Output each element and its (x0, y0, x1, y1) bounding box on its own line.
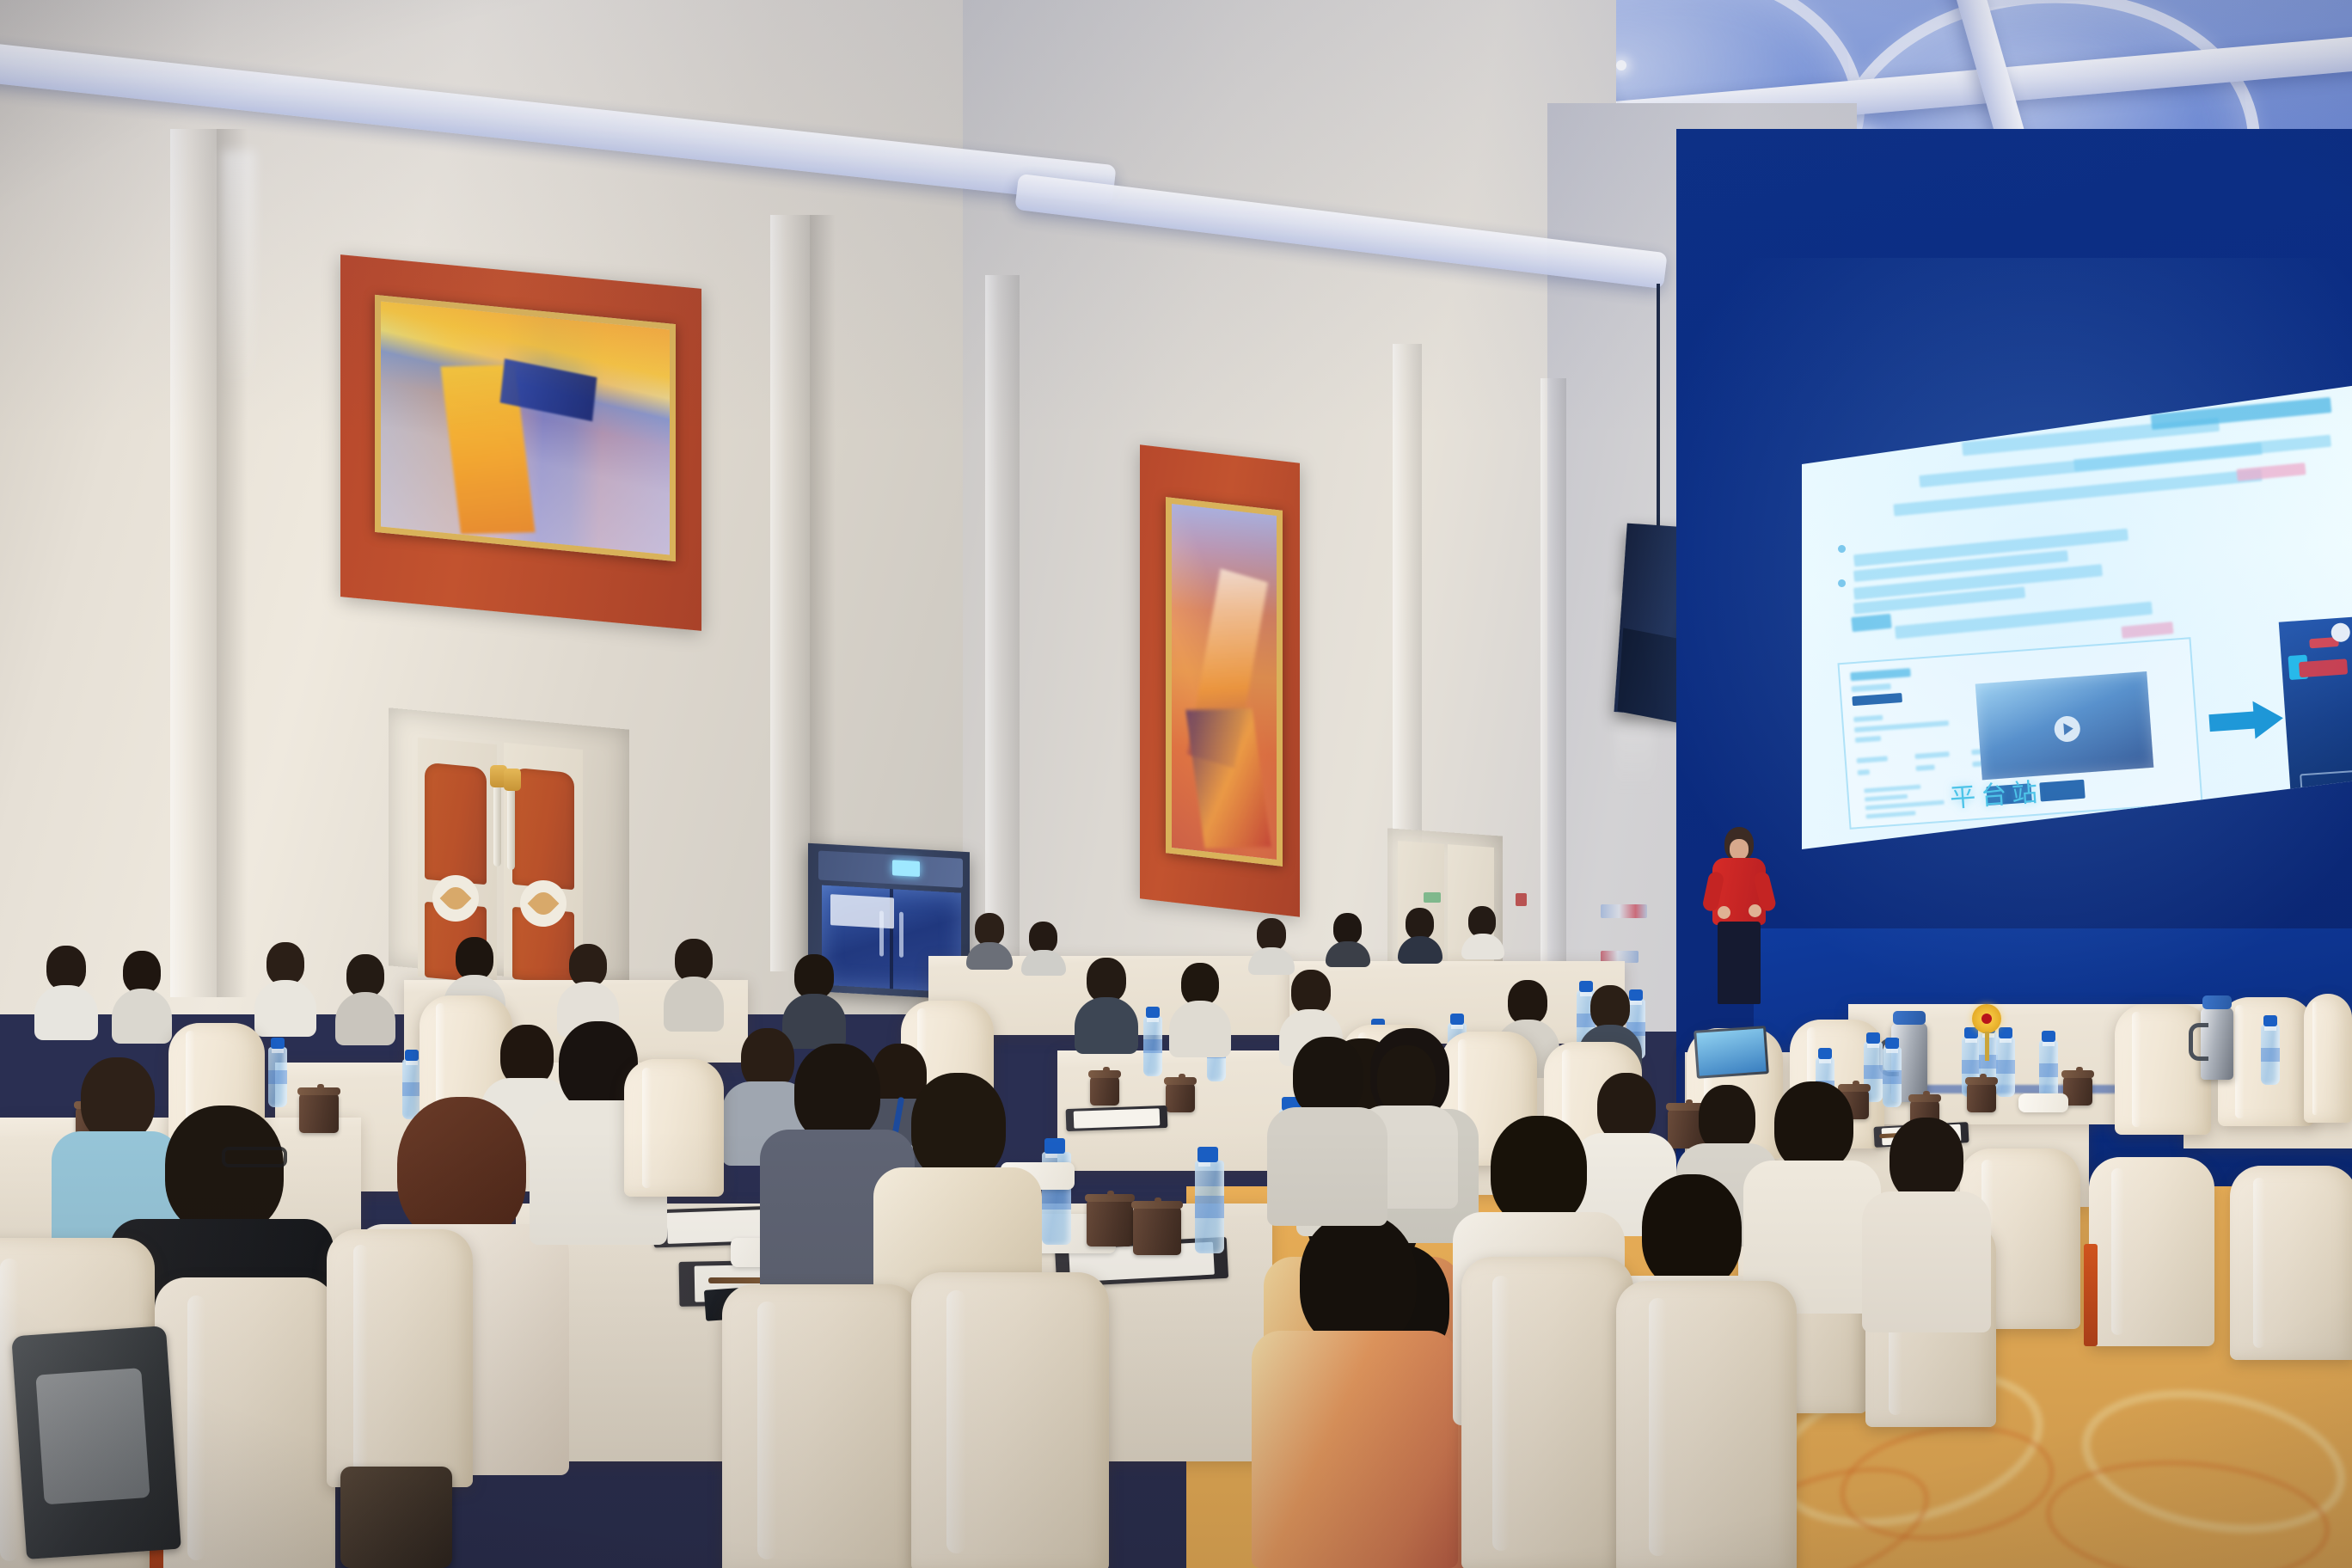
attendee-head (1291, 970, 1331, 1014)
presenter-hand-left (1718, 906, 1730, 919)
attendee (1461, 906, 1504, 958)
attendee-head (1181, 963, 1219, 1006)
attendee-head (1491, 1116, 1587, 1226)
attendee-torso (1267, 1107, 1387, 1226)
attendee-torso (254, 980, 316, 1037)
bottled-water (1143, 1016, 1162, 1076)
door-handle-knob[interactable] (504, 769, 521, 791)
folded-napkin (2018, 1093, 2068, 1112)
attendee (1398, 908, 1442, 961)
attendee-head (1590, 985, 1630, 1030)
vacuum-flask (2201, 1008, 2233, 1080)
attendee (1267, 1037, 1387, 1226)
attendee-head (1890, 1118, 1963, 1202)
lidded-teacup (1133, 1207, 1181, 1255)
attendee (34, 946, 98, 1040)
attendee (1326, 913, 1370, 965)
attendee-torso (1862, 1191, 1991, 1332)
banquet-chair (2304, 994, 2352, 1123)
slide-video-thumbnail (1975, 671, 2154, 780)
door-panel (512, 768, 574, 891)
attendee-torso (112, 989, 172, 1044)
bottled-water (1195, 1161, 1224, 1253)
backpack-pocket (36, 1368, 150, 1504)
slide-subheading-rest (1895, 602, 2153, 640)
attendee-torso (664, 977, 724, 1032)
card-body-line (1854, 720, 1949, 732)
wall-sign-plaque (1601, 904, 1647, 918)
card-sub-line (1851, 683, 1890, 692)
attendee-torso (1398, 936, 1442, 964)
fire-alarm-icon (1516, 893, 1527, 906)
attendee-head (675, 939, 713, 982)
banquet-chair (155, 1277, 335, 1568)
banquet-chair (327, 1229, 473, 1487)
attendee-head (123, 951, 161, 994)
attendee (1169, 963, 1231, 1057)
wall-pilaster (170, 129, 217, 997)
banquet-chair (1461, 1257, 1633, 1568)
painting-frame (1166, 497, 1283, 867)
attendee-head (1257, 918, 1286, 951)
attendee (1743, 1081, 1881, 1314)
attendee (335, 954, 395, 1045)
card-body-line (1855, 736, 1881, 743)
attendee-head (266, 942, 304, 985)
door-medallion (432, 875, 479, 922)
banquet-chair (722, 1284, 920, 1568)
attendee-head (1029, 922, 1057, 953)
card-list-line (1864, 785, 1920, 793)
slide-card-button[interactable] (2039, 780, 2085, 802)
bottled-water (1996, 1037, 2015, 1097)
play-icon (2054, 715, 2081, 743)
attendee-head (346, 954, 384, 997)
abstract-vertical-painting (1172, 504, 1277, 860)
wall-light-wash (222, 150, 256, 391)
slide-subheading (1851, 614, 1891, 632)
card-stat-label (1914, 751, 1949, 759)
slide-text-highlight (2121, 622, 2173, 639)
card-stat-value (1915, 764, 1934, 771)
wall-pilaster (985, 275, 1020, 980)
abstract-landscape-painting (381, 302, 670, 555)
card-tag (1852, 693, 1902, 706)
flow-arrow-icon (2208, 699, 2290, 742)
attendee-torso (1461, 934, 1504, 959)
card-list-line (1865, 800, 1945, 811)
card-title-line (1850, 668, 1911, 681)
presenter (1704, 827, 1776, 1008)
chair-sash (2084, 1244, 2098, 1346)
attendee-head (456, 937, 493, 980)
attendee-head (794, 954, 834, 999)
backpack (11, 1326, 181, 1559)
slide-caption: 平台站 (1949, 770, 2044, 814)
attendee-head (165, 1106, 284, 1234)
attendee-torso (1169, 1001, 1231, 1057)
banquet-chair (1616, 1281, 1797, 1568)
card-list-line (1865, 811, 1915, 818)
attendee-head (911, 1073, 1006, 1181)
attendee-head (569, 944, 607, 987)
notepad-folder (1066, 1106, 1168, 1131)
painting-frame (375, 295, 676, 561)
attendee (1862, 1118, 1991, 1332)
attendee (112, 951, 172, 1044)
attendee-head (1300, 1214, 1417, 1348)
bottled-water (2039, 1040, 2058, 1100)
card-list-line (1865, 794, 1908, 802)
attendee-head (1406, 908, 1434, 940)
lidded-teacup (1087, 1200, 1133, 1246)
banquet-chair (624, 1059, 724, 1197)
downlight-icon (1616, 60, 1626, 70)
cooler-display (892, 860, 920, 877)
attendee-torso (335, 992, 395, 1045)
attendee (1248, 918, 1295, 971)
mobile-icon-circle (2331, 622, 2350, 642)
banquet-chair (911, 1272, 1109, 1568)
door-panel (425, 763, 487, 885)
presenter-trousers (1718, 922, 1761, 1004)
banquet-chair (2230, 1166, 2352, 1360)
handbag (340, 1467, 452, 1568)
attendee-torso (1252, 1331, 1458, 1568)
cooler-header (818, 850, 963, 887)
table-number-disc (1972, 1004, 2001, 1033)
attendee (1252, 1214, 1458, 1568)
attendee (664, 939, 724, 1032)
banquet-chair (2089, 1157, 2214, 1346)
attendee (1021, 922, 1066, 973)
mobile-tag (2299, 658, 2348, 677)
bottled-water (268, 1047, 287, 1107)
attendee-head (794, 1044, 880, 1142)
exit-sign-icon (1424, 892, 1441, 903)
attendee-torso (1021, 950, 1066, 976)
attendee-head (1333, 913, 1362, 945)
laptop[interactable] (1694, 1026, 1769, 1079)
cooler-label (830, 894, 894, 928)
attendee-head (975, 913, 1004, 946)
attendee-head (397, 1097, 526, 1243)
presenter-face (1730, 839, 1749, 860)
attendee-head (1774, 1081, 1853, 1171)
slide-bullet-icon (1838, 579, 1847, 588)
wall-pilaster (770, 215, 810, 971)
attendee-head (1508, 980, 1547, 1025)
wall-pilaster (1540, 378, 1566, 980)
table-runner (1891, 1085, 2149, 1093)
door-handle[interactable] (493, 782, 501, 867)
bottled-water (2261, 1025, 2280, 1085)
attendee-torso (1326, 941, 1370, 967)
attendee-head (46, 946, 86, 990)
attendee-head (1087, 958, 1126, 1002)
speaker-suspension-cable (1657, 284, 1660, 530)
attendee-head (1293, 1037, 1363, 1118)
presenter-hand-right (1749, 904, 1761, 917)
slide-bullet-icon (1838, 545, 1847, 554)
card-stat-label (1857, 756, 1888, 763)
attendee (1075, 958, 1138, 1054)
attendee-head (1642, 1174, 1742, 1289)
attendee (254, 942, 316, 1037)
door-handle[interactable] (507, 786, 515, 870)
slide-mobile-screenshot (2279, 616, 2352, 804)
door-medallion (520, 880, 567, 927)
bottled-water (1883, 1047, 1902, 1107)
attendee-torso (34, 985, 98, 1040)
attendee-torso (966, 942, 1013, 970)
slide-text-highlight (2237, 462, 2306, 481)
card-stat-value (1858, 769, 1870, 775)
projection-screen: 平台站 (1790, 385, 2352, 849)
card-body-line (1853, 715, 1883, 722)
attendee-torso (1075, 997, 1138, 1054)
lidded-teacup (1967, 1083, 1996, 1112)
conference-hall-photo: 平台站 (0, 0, 2352, 1568)
attendee (966, 913, 1013, 966)
lidded-teacup (1090, 1076, 1119, 1106)
eyeglasses-icon (222, 1147, 287, 1167)
lidded-teacup (1166, 1083, 1195, 1112)
attendee-head (1468, 906, 1496, 937)
